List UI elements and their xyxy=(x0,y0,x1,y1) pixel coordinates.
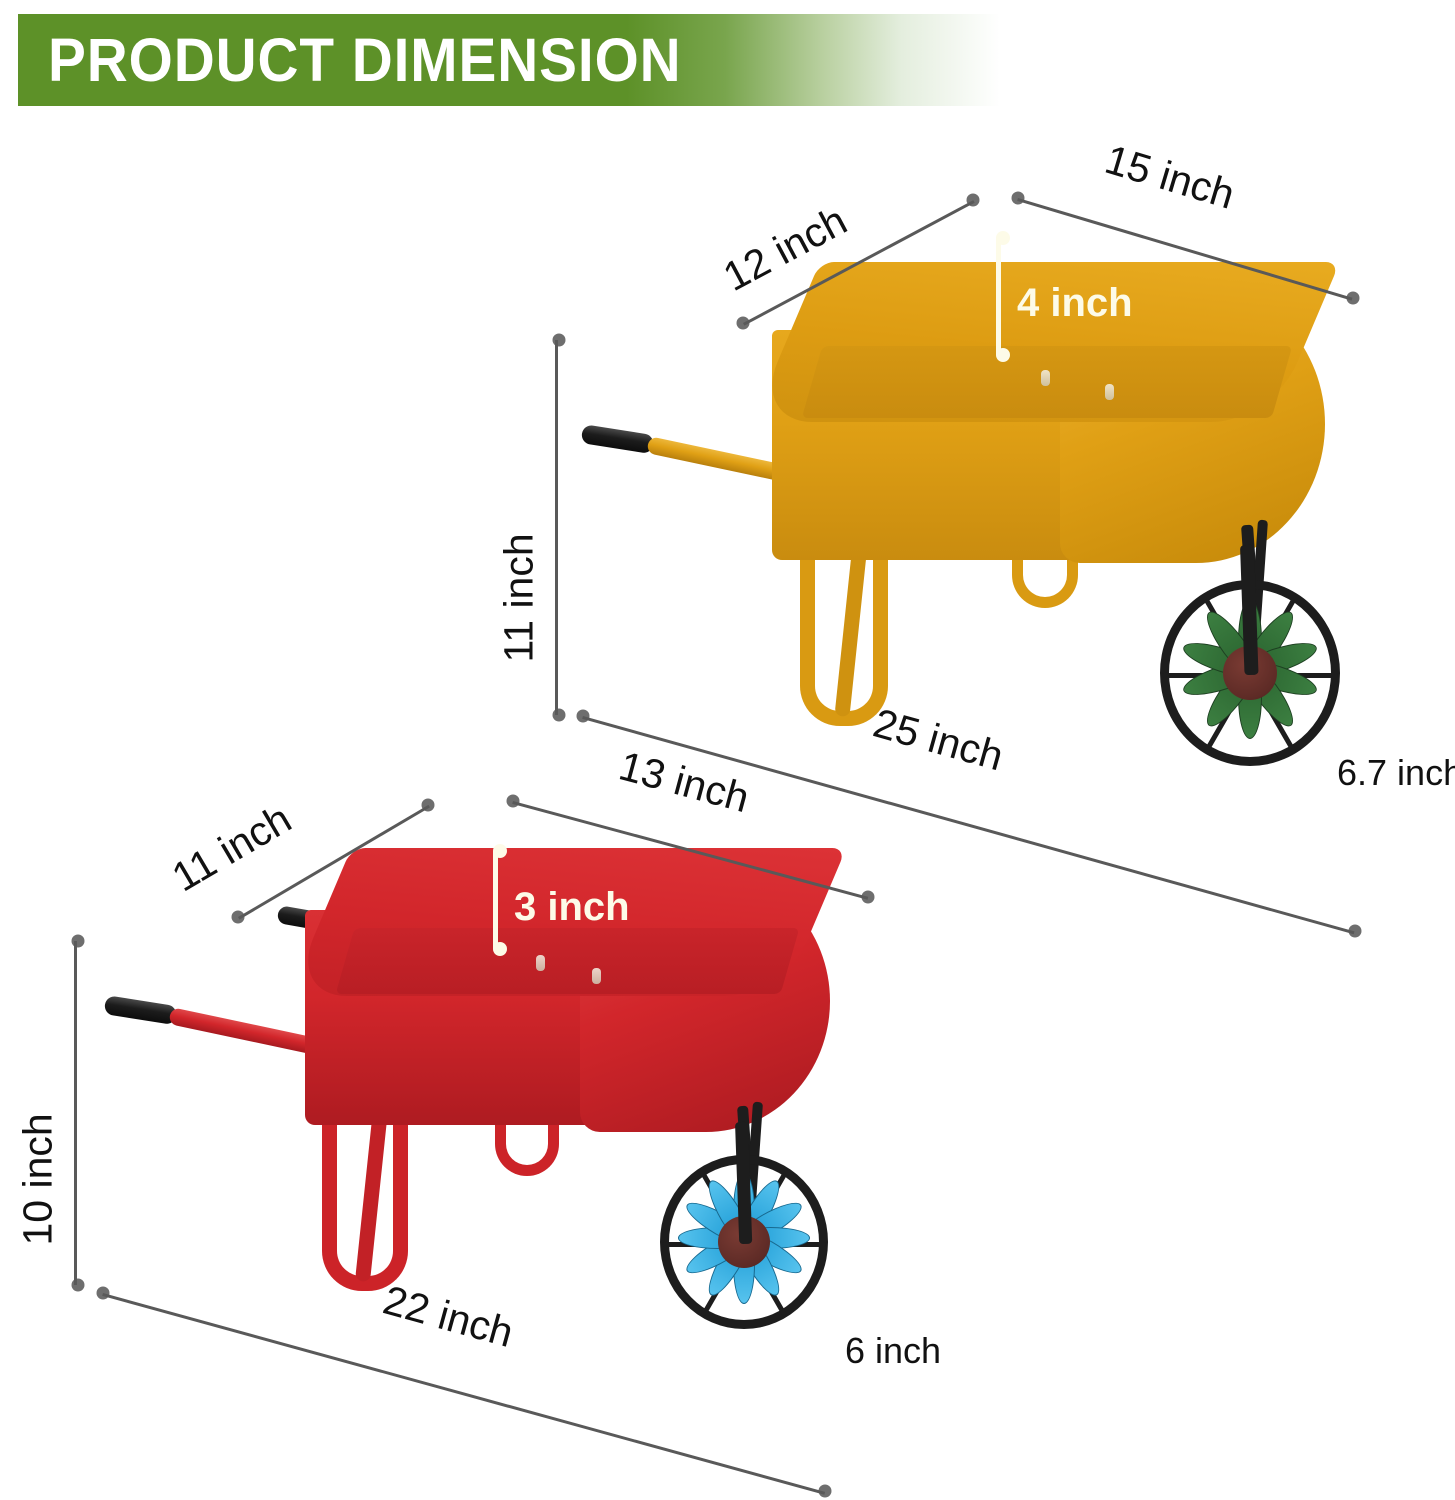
dim-line-3-inch xyxy=(493,851,498,949)
dim-label-wheel: 6 inch xyxy=(845,1330,941,1372)
red-handle-grip xyxy=(104,995,178,1025)
red-rivet xyxy=(536,955,545,971)
dim-label-depth: 11 inch xyxy=(164,795,299,901)
red-rivet xyxy=(592,968,601,984)
dim-line-10-inch xyxy=(74,941,77,1285)
dim-label-width: 13 inch xyxy=(614,742,754,822)
red-wheelbarrow-planter: 11 inch 13 inch 3 inch 10 inch 22 inch 6… xyxy=(0,0,1455,1500)
dim-label-length: 22 inch xyxy=(378,1277,518,1357)
red-tray-inner-floor xyxy=(336,928,800,994)
dim-label-inner-height: 3 inch xyxy=(514,885,630,930)
product-dimension-diagram: PRODUCT DIMENSION xyxy=(0,0,1455,1500)
dim-label-height: 10 inch xyxy=(15,1113,62,1245)
